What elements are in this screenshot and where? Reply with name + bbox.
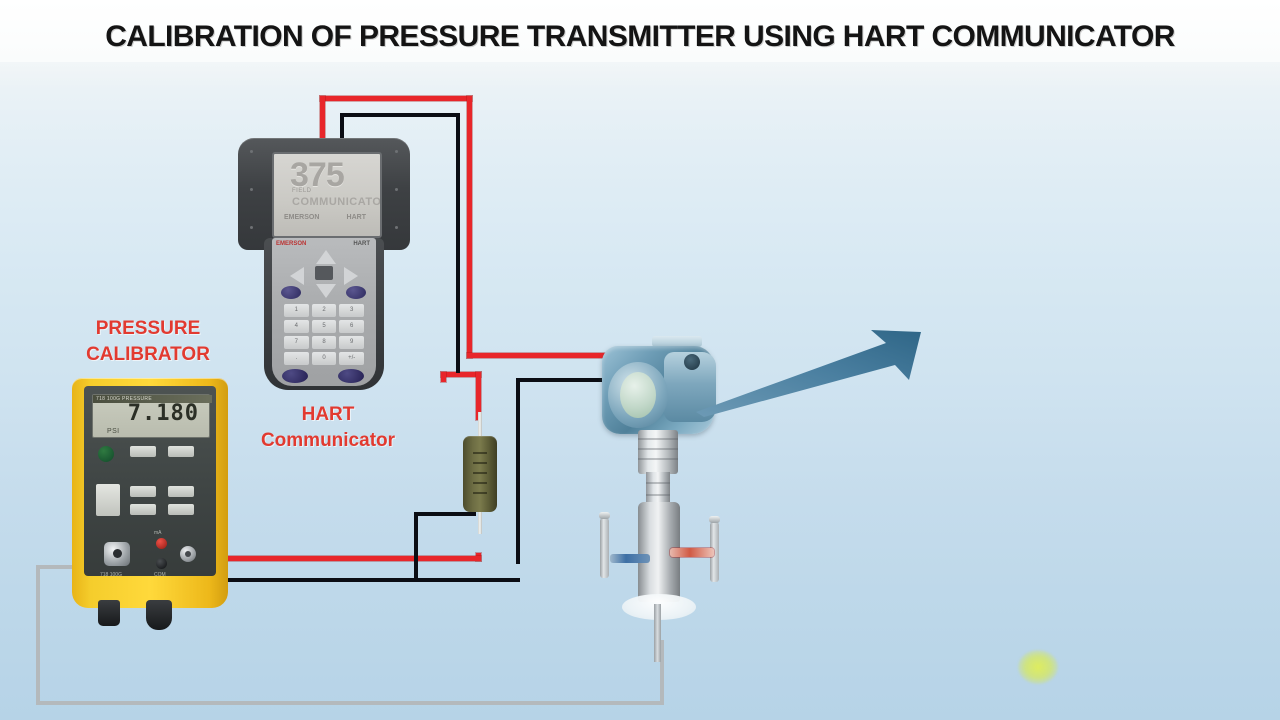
hart-key[interactable]: 6 bbox=[339, 320, 364, 333]
arrow-icon bbox=[690, 318, 940, 418]
hart-key[interactable]: 0 bbox=[312, 352, 337, 365]
hart-face-brand-right: HART bbox=[353, 241, 370, 247]
transmitter-cover bbox=[608, 362, 668, 428]
pressure-calibrator-label-line2: CALIBRATOR bbox=[48, 342, 248, 368]
hart-softkey-right[interactable] bbox=[346, 286, 366, 299]
calibrator-button-3[interactable] bbox=[130, 486, 156, 497]
calibrator-terminal-common[interactable] bbox=[156, 558, 167, 569]
calibrator-pressure-port[interactable] bbox=[104, 542, 130, 566]
manifold-vent-stem-left bbox=[600, 518, 609, 578]
calibrator-reading: 7.180 bbox=[128, 403, 199, 425]
calibrator-terminal-positive-label: mA bbox=[154, 530, 162, 536]
hart-power-button[interactable] bbox=[282, 369, 308, 383]
hart-label-line2: Communicator bbox=[238, 428, 418, 454]
calibrator-foot-left bbox=[98, 600, 120, 626]
calibrator-button-5[interactable] bbox=[130, 504, 156, 515]
calibrator-power-button[interactable] bbox=[98, 446, 114, 462]
hart-key[interactable]: 8 bbox=[312, 336, 337, 349]
hart-key[interactable]: 7 bbox=[284, 336, 309, 349]
slide-canvas: CALIBRATION OF PRESSURE TRANSMITTER USIN… bbox=[0, 0, 1280, 720]
nav-left-icon[interactable] bbox=[290, 267, 304, 285]
hart-communicator[interactable]: 375 FIELD COMMUNICATOR EMERSON HART EMER… bbox=[238, 138, 410, 390]
hart-key[interactable]: +/- bbox=[339, 352, 364, 365]
hart-key[interactable]: . bbox=[284, 352, 309, 365]
nav-select-button[interactable] bbox=[315, 266, 333, 280]
manifold-vent-cap-left bbox=[599, 512, 610, 519]
hart-display-protocol: HART bbox=[347, 214, 366, 221]
hart-enter-button[interactable] bbox=[338, 369, 364, 383]
laser-pointer-dot bbox=[1018, 650, 1058, 684]
manifold-vent-cap-right bbox=[709, 516, 720, 523]
wire-black-top-horizontal bbox=[340, 113, 460, 117]
wire-black-resistor-side bbox=[414, 512, 418, 578]
calibrator-reading-unit: PSI bbox=[107, 428, 119, 435]
hart-key[interactable]: 1 bbox=[284, 304, 309, 317]
manifold-valve-handle-red[interactable] bbox=[670, 548, 714, 557]
wire-red-branch-horizontal bbox=[441, 372, 481, 377]
calibrator-zero-button[interactable] bbox=[96, 484, 120, 516]
hart-display-sub2: COMMUNICATOR bbox=[292, 196, 382, 208]
manifold-valve-handle-blue[interactable] bbox=[610, 554, 650, 563]
pressure-calibrator-label-line1: PRESSURE bbox=[48, 316, 248, 342]
hart-face-brand-left: EMERSON bbox=[276, 241, 306, 247]
calibrator-button-1[interactable] bbox=[130, 446, 156, 457]
hart-key[interactable]: 2 bbox=[312, 304, 337, 317]
nav-up-icon[interactable] bbox=[316, 250, 336, 264]
hart-numeric-keypad[interactable]: 1 2 3 4 5 6 7 8 9 . 0 +/- bbox=[284, 304, 364, 365]
pressure-calibrator-label: PRESSURE CALIBRATOR bbox=[48, 316, 248, 367]
calibrator-terminal-positive[interactable] bbox=[156, 538, 167, 549]
calibrator-button-2[interactable] bbox=[168, 446, 194, 457]
hart-communicator-label: HART Communicator bbox=[238, 402, 418, 453]
nav-right-icon[interactable] bbox=[344, 267, 358, 285]
loop-resistor bbox=[459, 412, 501, 534]
calibrator-lcd: 718 100G PRESSURE 7.180 PSI bbox=[92, 394, 210, 438]
hart-display: 375 FIELD COMMUNICATOR EMERSON HART bbox=[272, 152, 382, 238]
calibrator-button-6[interactable] bbox=[168, 504, 194, 515]
hart-display-brand: EMERSON bbox=[284, 214, 319, 221]
hart-label-line1: HART bbox=[238, 402, 418, 428]
wire-red-branch-corner bbox=[441, 372, 446, 382]
hart-softkey-left[interactable] bbox=[281, 286, 301, 299]
hart-keypad-face: EMERSON HART 1 2 3 4 5 6 7 8 9 . bbox=[272, 238, 376, 386]
transmitter-window bbox=[620, 372, 656, 418]
wire-black-right-drop bbox=[456, 113, 460, 373]
hart-key[interactable]: 9 bbox=[339, 336, 364, 349]
nav-down-icon[interactable] bbox=[316, 284, 336, 298]
tube-left-riser bbox=[36, 565, 40, 705]
hart-key[interactable]: 4 bbox=[284, 320, 309, 333]
wire-black-drop bbox=[516, 378, 520, 564]
output-signal-arrow bbox=[690, 318, 940, 418]
hart-display-sub1: FIELD bbox=[292, 188, 312, 194]
calibrator-foot-right bbox=[146, 600, 172, 630]
calibrator-bottom-text: 718 100G bbox=[100, 572, 122, 578]
calibrator-terminal-center[interactable] bbox=[180, 546, 196, 562]
page-title: CALIBRATION OF PRESSURE TRANSMITTER USIN… bbox=[0, 20, 1280, 54]
calibrator-front-panel: 718 100G PRESSURE 7.180 PSI mA COM 718 1… bbox=[84, 386, 216, 576]
wire-red-right-drop bbox=[467, 96, 472, 358]
calibrator-button-4[interactable] bbox=[168, 486, 194, 497]
transmitter-neck bbox=[638, 430, 678, 474]
tube-bottom-run bbox=[36, 701, 664, 705]
wire-red-top-horizontal bbox=[320, 96, 472, 101]
hart-display-model: 375 bbox=[290, 158, 344, 192]
hart-key[interactable]: 3 bbox=[339, 304, 364, 317]
wire-red-hart-riser bbox=[320, 96, 325, 144]
calibrator-port-area: mA COM 718 100G bbox=[96, 534, 228, 578]
resistor-body bbox=[463, 436, 497, 512]
pressure-calibrator[interactable]: 718 100G PRESSURE 7.180 PSI mA COM 718 1… bbox=[72, 378, 228, 633]
transmitter-process-connection bbox=[654, 604, 661, 662]
calibrator-terminal-common-label: COM bbox=[154, 572, 166, 578]
hart-key[interactable]: 5 bbox=[312, 320, 337, 333]
